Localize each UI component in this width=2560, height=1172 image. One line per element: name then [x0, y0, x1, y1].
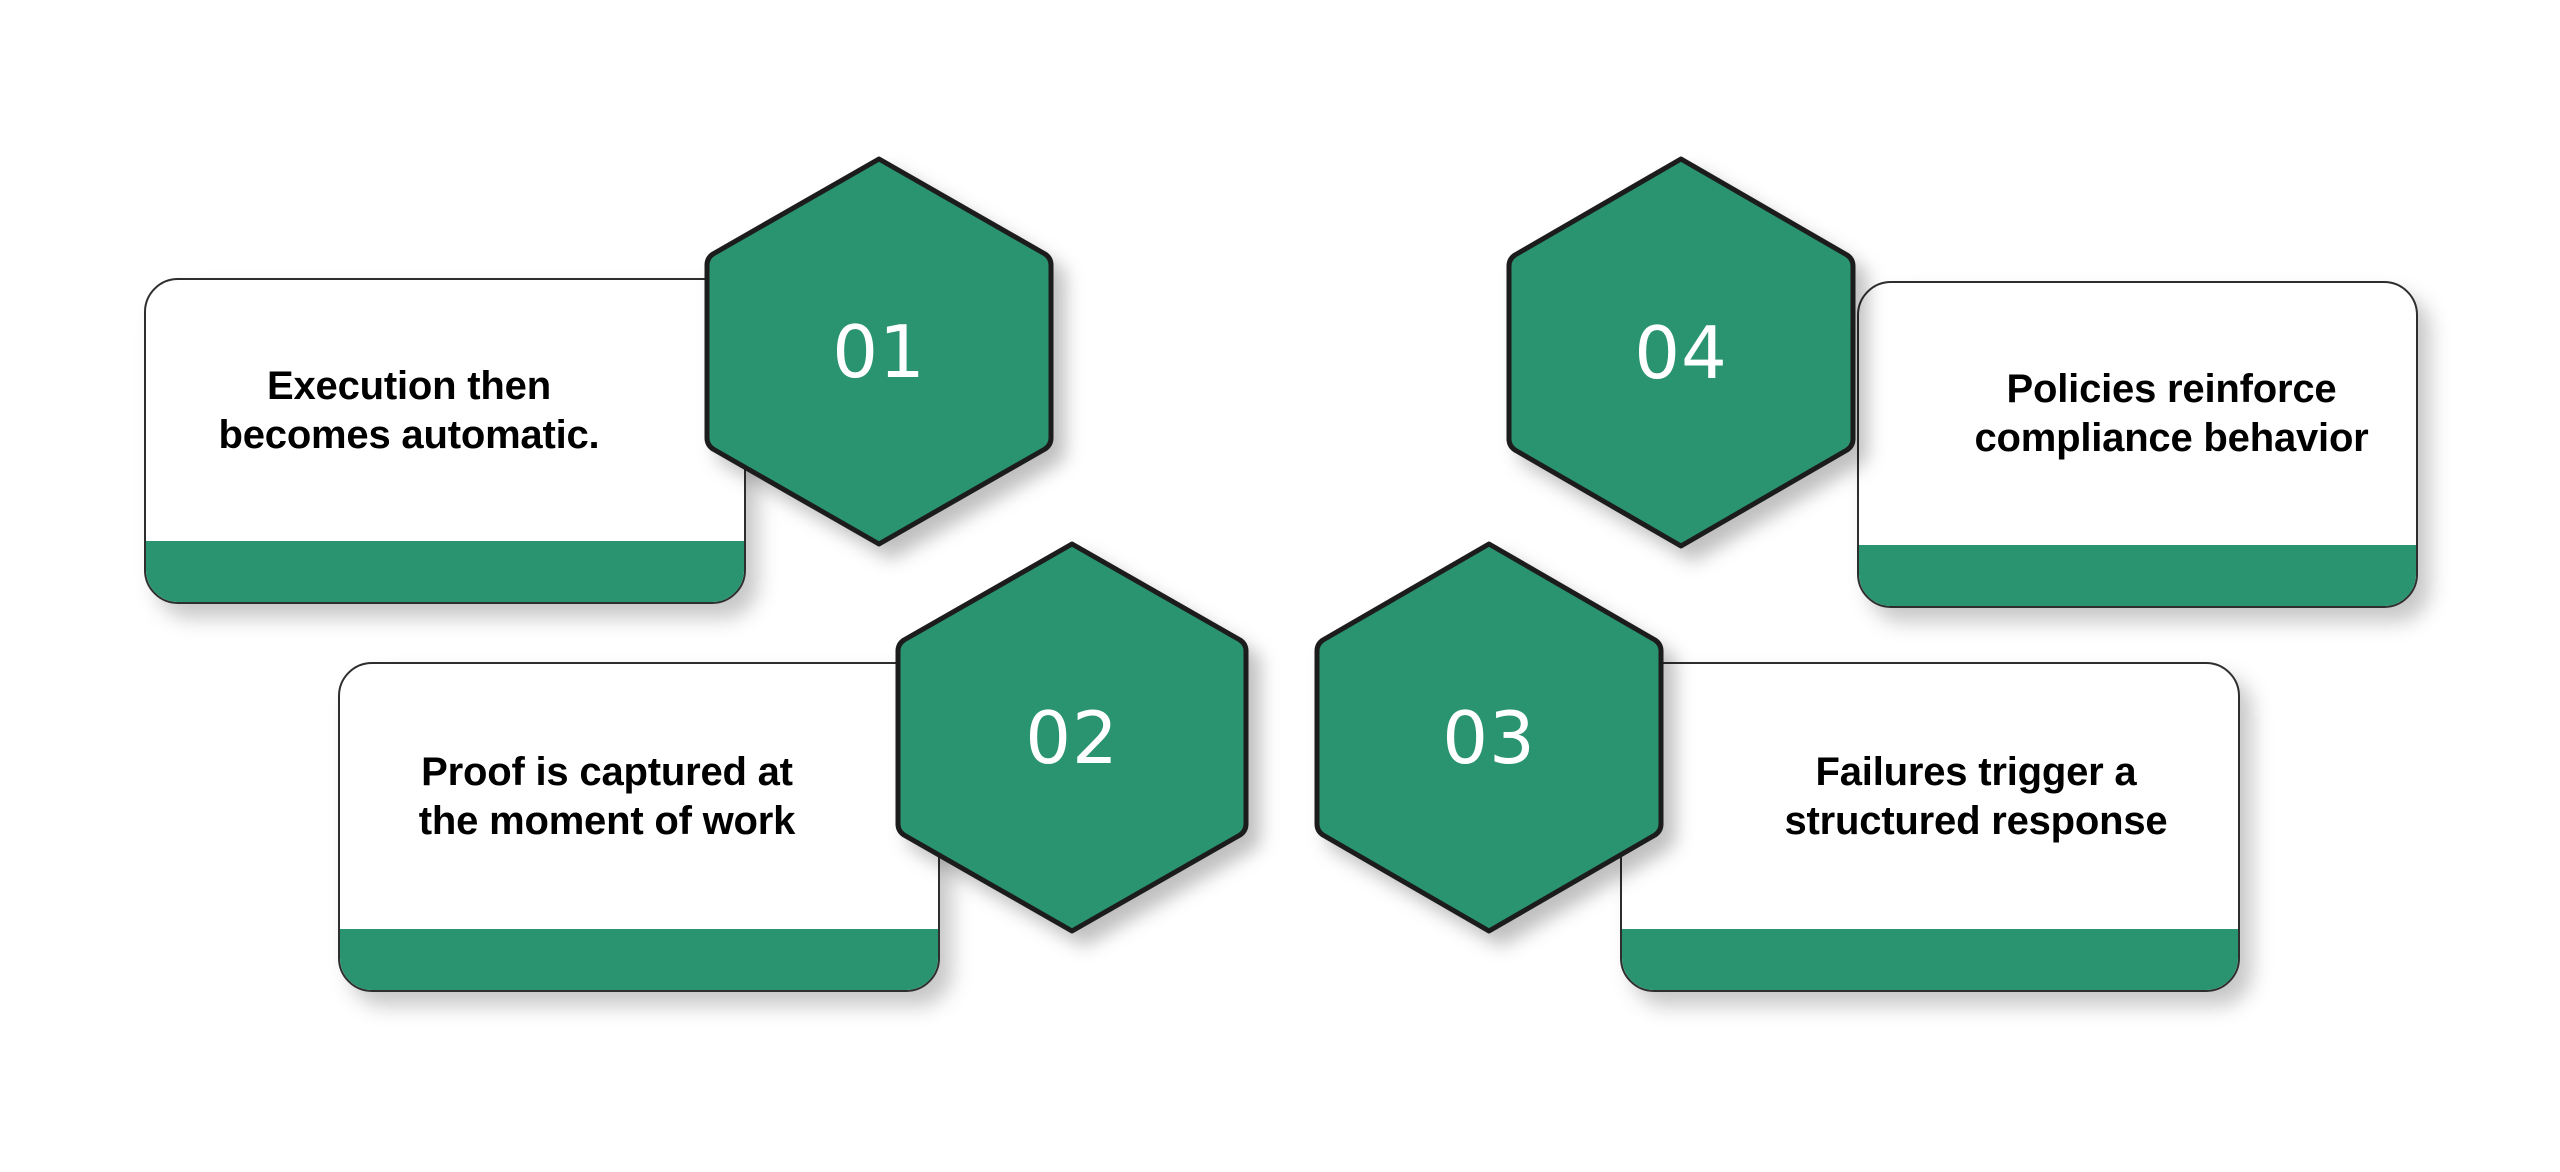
- card-step-02-footer-bar: [340, 929, 938, 990]
- card-step-02[interactable]: Proof is captured at the moment of work: [338, 662, 940, 992]
- hexagon-step-01[interactable]: 01: [703, 155, 1055, 548]
- card-step-03-footer-bar: [1622, 929, 2238, 990]
- card-step-03-body: Failures trigger a structured response: [1622, 664, 2238, 929]
- card-step-01-body: Execution then becomes automatic.: [146, 280, 744, 541]
- card-step-02-label: Proof is captured at the moment of work: [393, 748, 821, 846]
- hexagon-step-03-number: 03: [1442, 702, 1536, 774]
- infographic-canvas: Execution then becomes automatic. Proof …: [0, 0, 2560, 1172]
- card-step-04-label: Policies reinforce compliance behavior: [1948, 365, 2394, 463]
- hexagon-step-01-number: 01: [832, 316, 926, 388]
- card-step-03[interactable]: Failures trigger a structured response: [1620, 662, 2240, 992]
- card-step-04-footer-bar: [1859, 545, 2416, 606]
- hexagon-step-03[interactable]: 03: [1313, 540, 1665, 935]
- card-step-02-body: Proof is captured at the moment of work: [340, 664, 938, 929]
- hexagon-step-04-number: 04: [1634, 317, 1728, 389]
- card-step-01-label: Execution then becomes automatic.: [193, 362, 626, 460]
- card-step-01[interactable]: Execution then becomes automatic.: [144, 278, 746, 604]
- card-step-03-label: Failures trigger a structured response: [1759, 748, 2194, 846]
- card-step-01-footer-bar: [146, 541, 744, 602]
- hexagon-step-02[interactable]: 02: [894, 540, 1250, 935]
- hexagon-step-02-number: 02: [1025, 702, 1119, 774]
- card-step-04[interactable]: Policies reinforce compliance behavior: [1857, 281, 2418, 608]
- hexagon-step-04[interactable]: 04: [1505, 155, 1857, 550]
- card-step-04-body: Policies reinforce compliance behavior: [1859, 283, 2416, 545]
